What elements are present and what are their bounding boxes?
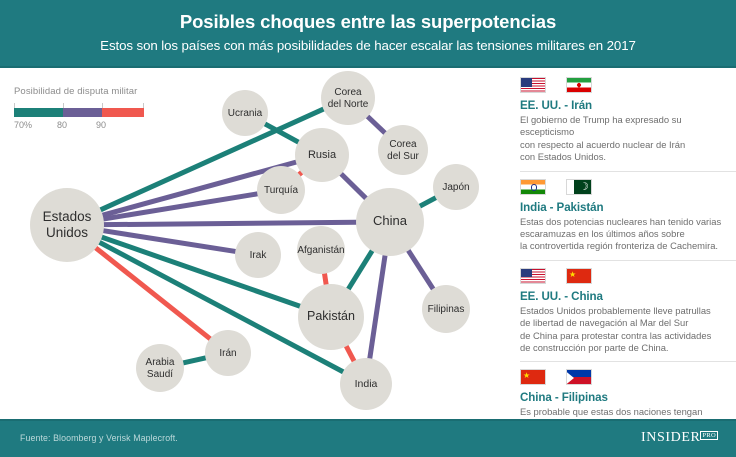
india-flag-icon bbox=[520, 179, 546, 195]
header-banner: Posibles choques entre las superpotencia… bbox=[0, 0, 736, 68]
node-label-arabia: ArabiaSaudí bbox=[146, 357, 175, 380]
node-label-afganistan: Afganistán bbox=[297, 245, 344, 256]
iran-flag-icon bbox=[566, 77, 592, 93]
node-label-turquia: Turquía bbox=[264, 185, 299, 196]
conflict-pair-description: Estas dos potencias nucleares han tenido… bbox=[520, 216, 736, 253]
panel-divider bbox=[520, 260, 736, 261]
conflict-pair-title: EE. UU. - Irán bbox=[520, 99, 736, 112]
node-coreanorte[interactable]: Coreadel Norte bbox=[321, 71, 375, 125]
insider-pro-logo: INSIDERPRO bbox=[641, 430, 718, 446]
nodes-group: EstadosUnidosUcraniaCoreadel NorteCoread… bbox=[30, 71, 479, 410]
node-label-coreasur: Coreadel Sur bbox=[387, 139, 419, 162]
node-turquia[interactable]: Turquía bbox=[257, 166, 305, 214]
edge-china-filipinas bbox=[408, 250, 434, 290]
conflict-pair-item[interactable]: EE. UU. - ChinaEstados Unidos probableme… bbox=[512, 267, 736, 355]
edge-pakistan-india bbox=[346, 345, 355, 361]
edge-afganistan-pakistan bbox=[324, 273, 326, 286]
pakistan-flag-icon bbox=[566, 179, 592, 195]
conflict-pair-item[interactable]: India - PakistánEstas dos potencias nucl… bbox=[512, 178, 736, 253]
node-pakistan[interactable]: Pakistán bbox=[298, 284, 364, 350]
edge-coreanorte-coreasur bbox=[367, 116, 386, 134]
flag-pair bbox=[520, 178, 736, 196]
edge-china-japon bbox=[419, 197, 436, 206]
node-india[interactable]: India bbox=[340, 358, 392, 410]
node-label-pakistan: Pakistán bbox=[307, 309, 355, 323]
node-japon[interactable]: Japón bbox=[433, 164, 479, 210]
panel-divider bbox=[520, 171, 736, 172]
node-arabia[interactable]: ArabiaSaudí bbox=[136, 344, 184, 392]
node-label-india: India bbox=[355, 378, 378, 390]
node-label-rusia: Rusia bbox=[308, 149, 337, 161]
conflict-pair-description: Estados Unidos probablemente lleve patru… bbox=[520, 305, 736, 355]
page-title: Posibles choques entre las superpotencia… bbox=[0, 11, 736, 33]
node-coreasur[interactable]: Coreadel Sur bbox=[378, 125, 428, 175]
node-irak[interactable]: Irak bbox=[235, 232, 281, 278]
flag-pair bbox=[520, 76, 736, 94]
footer-bar: Fuente: Bloomberg y Verisk Maplecroft. I… bbox=[0, 419, 736, 457]
edge-arabia-iran bbox=[182, 358, 206, 363]
philippines-flag-icon bbox=[566, 369, 592, 385]
node-label-japon: Japón bbox=[442, 182, 469, 193]
logo-pro-badge: PRO bbox=[700, 431, 718, 440]
conflict-pair-item[interactable]: EE. UU. - IránEl gobierno de Trump ha ex… bbox=[512, 76, 736, 164]
source-credit: Fuente: Bloomberg y Verisk Maplecroft. bbox=[20, 433, 178, 443]
node-afganistan[interactable]: Afganistán bbox=[297, 226, 345, 274]
node-label-filipinas: Filipinas bbox=[428, 304, 465, 315]
network-svg: EstadosUnidosUcraniaCoreadel NorteCoread… bbox=[0, 70, 510, 418]
node-iran[interactable]: Irán bbox=[205, 330, 251, 376]
page-subtitle: Estos son los países con más posibilidad… bbox=[0, 38, 736, 53]
infographic-page: Posibles choques entre las superpotencia… bbox=[0, 0, 736, 457]
header-divider bbox=[0, 66, 736, 68]
conflict-pair-title: India - Pakistán bbox=[520, 201, 736, 214]
node-china[interactable]: China bbox=[356, 188, 424, 256]
node-label-eeuu: EstadosUnidos bbox=[43, 209, 92, 240]
united-states-flag-icon bbox=[520, 268, 546, 284]
edge-eeuu-irak bbox=[103, 231, 237, 252]
china-flag-icon bbox=[520, 369, 546, 385]
node-label-ucrania: Ucrania bbox=[228, 108, 263, 119]
node-filipinas[interactable]: Filipinas bbox=[422, 285, 470, 333]
footer-divider bbox=[0, 419, 736, 421]
edge-rusia-china bbox=[341, 173, 367, 199]
china-flag-icon bbox=[566, 268, 592, 284]
edge-china-pakistan bbox=[348, 250, 373, 290]
node-eeuu[interactable]: EstadosUnidos bbox=[30, 188, 104, 262]
flag-pair bbox=[520, 368, 736, 386]
edge-china-india bbox=[370, 255, 386, 360]
node-rusia[interactable]: Rusia bbox=[295, 128, 349, 182]
conflict-pair-title: China - Filipinas bbox=[520, 391, 736, 404]
conflict-pair-description: El gobierno de Trump ha expresado su esc… bbox=[520, 114, 736, 164]
node-label-china: China bbox=[373, 213, 408, 228]
panel-divider bbox=[520, 361, 736, 362]
conflict-pairs-panel: EE. UU. - IránEl gobierno de Trump ha ex… bbox=[512, 76, 736, 416]
network-diagram: EstadosUnidosUcraniaCoreadel NorteCoread… bbox=[0, 70, 510, 418]
edge-eeuu-china bbox=[103, 222, 357, 224]
node-label-iran: Irán bbox=[219, 348, 236, 359]
flag-pair bbox=[520, 267, 736, 285]
united-states-flag-icon bbox=[520, 77, 546, 93]
node-label-irak: Irak bbox=[250, 250, 268, 261]
logo-text: INSIDER bbox=[641, 430, 700, 445]
node-ucrania[interactable]: Ucrania bbox=[222, 90, 268, 136]
conflict-pair-title: EE. UU. - China bbox=[520, 290, 736, 303]
